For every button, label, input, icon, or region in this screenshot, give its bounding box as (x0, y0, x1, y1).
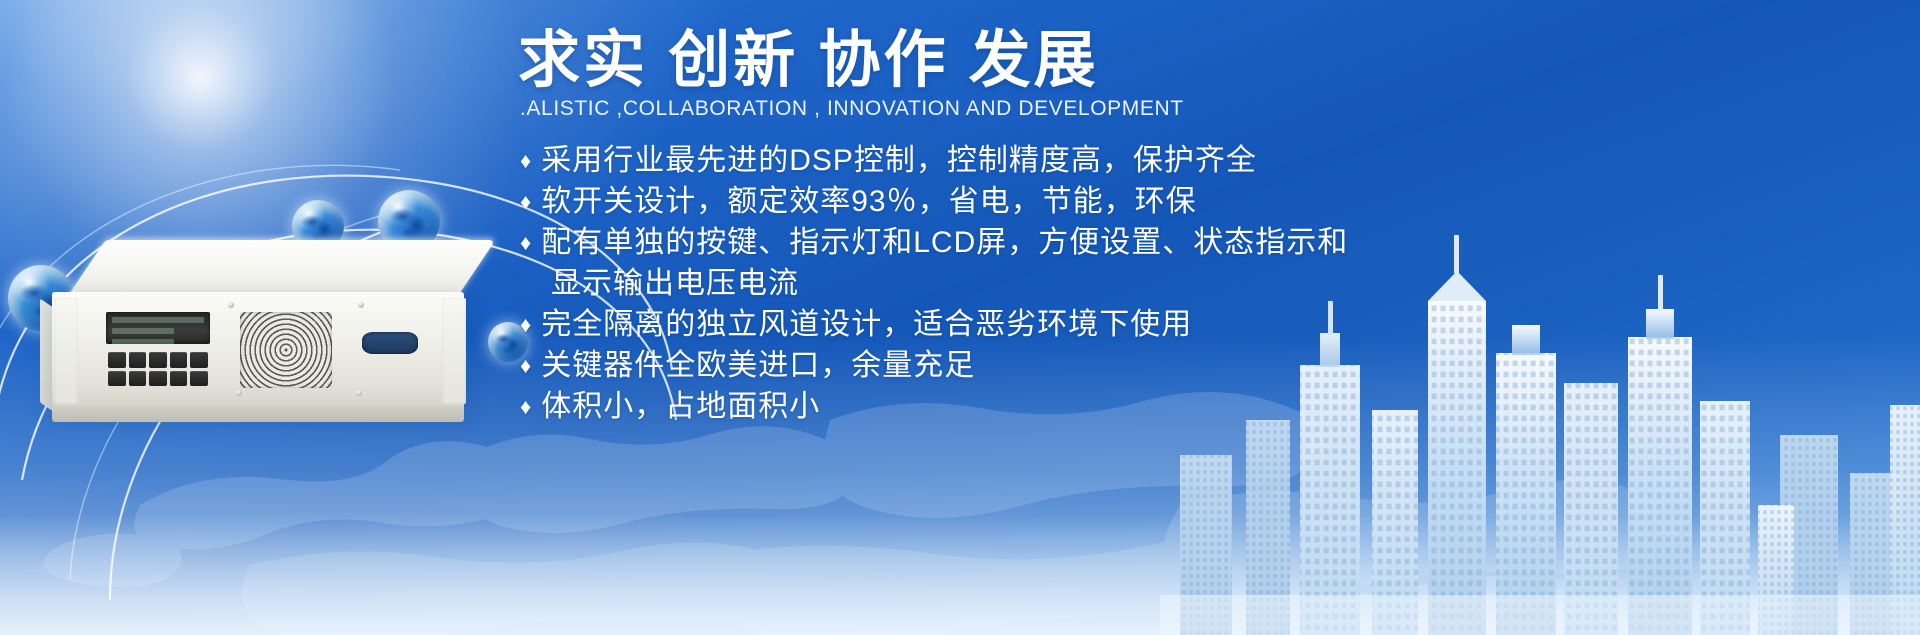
feature-item: ♦显示输出电压电流 (520, 263, 1460, 304)
diamond-bullet-icon: ♦ (520, 345, 532, 386)
english-subtitle: .ALISTIC ,COLLABORATION , INNOVATION AND… (520, 97, 1184, 121)
feature-item-label: 关键器件全欧美进口，余量充足 (541, 345, 975, 386)
feature-item-label: 软开关设计，额定效率93％，省电，节能，环保 (541, 181, 1196, 222)
banner-copy: 求实 创新 协作 发展 .ALISTIC ,COLLABORATION , IN… (0, 0, 1920, 635)
feature-item: ♦采用行业最先进的DSP控制，控制精度高，保护齐全 (520, 140, 1460, 181)
diamond-bullet-icon: ♦ (520, 386, 532, 427)
feature-item: ♦体积小，占地面积小 (520, 386, 1460, 427)
feature-item: ♦关键器件全欧美进口，余量充足 (520, 345, 1460, 386)
feature-item: ♦完全隔离的独立风道设计，适合恶劣环境下使用 (520, 304, 1460, 345)
diamond-bullet-icon: ♦ (520, 222, 532, 263)
diamond-bullet-icon: ♦ (520, 304, 532, 345)
feature-item-label: 完全隔离的独立风道设计，适合恶劣环境下使用 (541, 304, 1192, 345)
product-promo-banner: 求实 创新 协作 发展 .ALISTIC ,COLLABORATION , IN… (0, 0, 1920, 635)
page-title: 求实 创新 协作 发展 (518, 28, 1099, 93)
feature-item-label: 体积小，占地面积小 (541, 386, 820, 427)
diamond-bullet-icon: ♦ (520, 140, 532, 181)
diamond-bullet-icon: ♦ (520, 181, 532, 222)
feature-item: ♦配有单独的按键、指示灯和LCD屏，方便设置、状态指示和 (520, 222, 1460, 263)
feature-item-label: 配有单独的按键、指示灯和LCD屏，方便设置、状态指示和 (541, 222, 1348, 263)
feature-list: ♦采用行业最先进的DSP控制，控制精度高，保护齐全♦软开关设计，额定效率93％，… (520, 140, 1460, 427)
feature-item-label: 显示输出电压电流 (551, 263, 799, 304)
feature-item: ♦软开关设计，额定效率93％，省电，节能，环保 (520, 181, 1460, 222)
feature-item-label: 采用行业最先进的DSP控制，控制精度高，保护齐全 (541, 140, 1257, 181)
